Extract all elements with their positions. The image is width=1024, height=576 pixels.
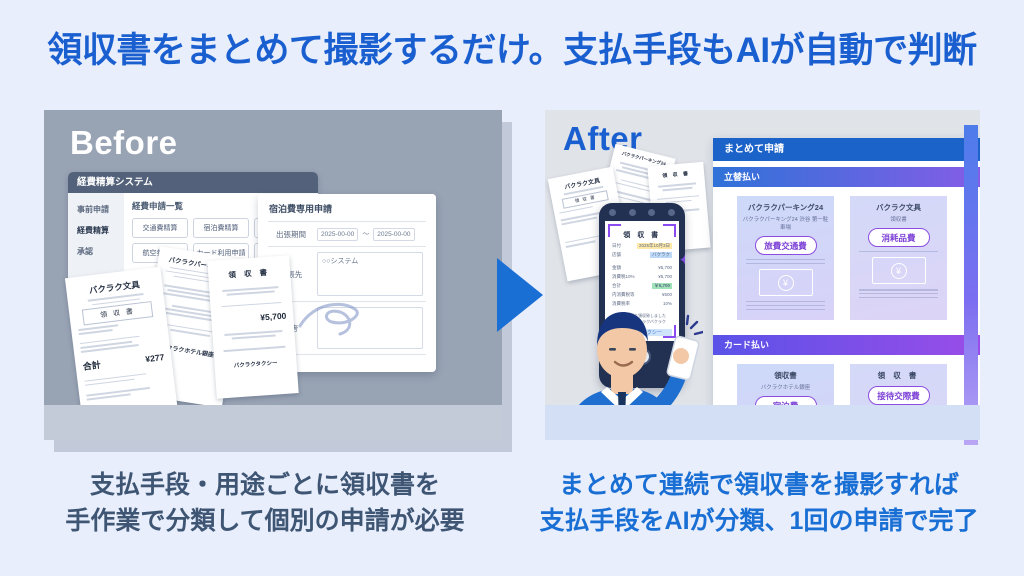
destination-input[interactable]: ○○システム: [317, 252, 423, 296]
before-desk-surface: [44, 405, 502, 440]
phone-row-total-label: 合計: [612, 283, 621, 289]
form-label-period: 出張期間: [268, 229, 314, 240]
phone-row-amount-value: ¥5,700: [658, 265, 672, 271]
matome-application-window: まとめて申請 立替払い バクラクパーキング24 バクラクパーキング24 渋谷 第…: [713, 138, 980, 423]
phone-row-tax-value: ¥5,700: [658, 274, 672, 280]
receipt-taxi-amount: ¥5,700: [218, 311, 287, 326]
receipt-card-bunbougu[interactable]: バクラク文具 領収書 消耗品費 ¥: [850, 196, 947, 320]
phone-row-store-label: 店舗: [612, 252, 621, 258]
expense-button-lodging[interactable]: 宿泊費精算: [193, 218, 249, 238]
after-receipt-doc-title: 領 収 書: [653, 169, 699, 180]
before-panel: Before 経費精算システム 事前申請 経費精算 承認 経費申請一覧 交通費精…: [44, 110, 502, 440]
after-accent-bar: [964, 125, 978, 445]
phone-row-tax-label: 消費税10%: [612, 274, 635, 280]
timer-icon[interactable]: [648, 209, 655, 216]
category-tag-entertainment: 接待交際費: [868, 386, 930, 405]
phone-row-tax: 消費税10% ¥5,700: [612, 274, 672, 280]
phone-row-store: 店舗 バクラク: [612, 252, 672, 258]
caption-after-line2: 支払手段をAIが分類、1回の申請で完了: [524, 504, 994, 540]
period-tilde: ～: [362, 229, 369, 239]
settings-icon[interactable]: [668, 209, 675, 216]
period-to-input[interactable]: 2025-00-00: [373, 228, 414, 241]
section-header-card: カード払い: [713, 335, 980, 355]
after-desk-surface: [545, 405, 980, 440]
receipt-taxi-title: 領 収 書: [215, 266, 284, 282]
receipt-card-parking-sub: バクラクパーキング24 渋谷 第一駐車場: [742, 215, 829, 231]
phone-row-date: 日付 2025年10月3日: [612, 243, 672, 249]
slide-root: 領収書をまとめて撮影するだけ。支払手段もAIが自動で判断 Before 経費精算…: [0, 0, 1024, 576]
receipt-card-hotel-sub: バクラクホテル銀座: [742, 383, 829, 391]
receipt-taxi: 領 収 書 ¥5,700 バクラクタクシー: [207, 255, 298, 398]
receipt-taxi-footer: バクラクタクシー: [221, 357, 289, 370]
receipt-card-bunbougu-title: バクラク文具: [855, 202, 942, 213]
phone-row-total: 合計 ￥5,700: [612, 283, 672, 289]
scan-corner-tr-icon: [663, 224, 676, 237]
receipt-bunbougu-title: バクラク文具: [73, 277, 156, 299]
sidebar-item-expense[interactable]: 経費精算: [68, 220, 124, 241]
sidebar-item-advance[interactable]: 事前申請: [68, 199, 124, 220]
receipt-bunbougu-total-label: 合計: [82, 357, 101, 372]
receipt-card-parking-title: バクラクパーキング24: [742, 202, 829, 213]
caption-before-line2: 手作業で分類して個別の申請が必要: [30, 504, 500, 540]
expense-button-transport[interactable]: 交通費精算: [132, 218, 188, 238]
after-panel: After バクラクパーキング24 領 収 書: [545, 110, 980, 440]
scan-corner-tl-icon: [608, 224, 621, 237]
matome-window-title: まとめて申請: [713, 138, 980, 161]
form-row-period: 出張期間 2025-00-00 ～ 2025-00-00: [268, 222, 426, 247]
phone-row-date-value: 2025年10月3日: [637, 243, 672, 249]
phone-row-total-value: ￥5,700: [652, 283, 672, 289]
phone-row-store-value: バクラク: [650, 252, 672, 258]
grid-icon[interactable]: [629, 209, 636, 216]
receipt-card-entertainment-title: 領 収 書: [855, 370, 942, 381]
receipt-bunbougu-amount: ¥277: [145, 352, 165, 364]
scribble-icon: [296, 296, 366, 342]
section-body-tatekae: バクラクパーキング24 バクラクパーキング24 渋谷 第一駐車場 旅費交通費 ¥…: [713, 187, 980, 329]
before-label: Before: [70, 124, 178, 162]
phone-row-amount-label: 金額: [612, 265, 621, 271]
receipt-card-parking[interactable]: バクラクパーキング24 バクラクパーキング24 渋谷 第一駐車場 旅費交通費 ¥: [737, 196, 834, 320]
period-from-input[interactable]: 2025-00-00: [317, 228, 358, 241]
section-header-tatekae: 立替払い: [713, 167, 980, 187]
sparkle-icon: ✦: [678, 251, 685, 269]
expense-system-title: 経費精算システム: [68, 172, 318, 193]
flash-icon[interactable]: [609, 209, 616, 216]
page-title: 領収書をまとめて撮影するだけ。支払手段もAIが自動で判断: [0, 22, 1024, 73]
caption-before: 支払手段・用途ごとに領収書を 手作業で分類して個別の申請が必要: [30, 468, 500, 539]
phone-row-date-label: 日付: [612, 243, 621, 249]
phone-row-amount: 金額 ¥5,700: [612, 265, 672, 271]
right-arrow-icon: [497, 258, 543, 332]
category-tag-travel: 旅費交通費: [755, 236, 817, 255]
caption-after-line1: まとめて連続で領収書を撮影すれば: [524, 468, 994, 504]
caption-before-line1: 支払手段・用途ごとに領収書を: [30, 468, 500, 504]
category-tag-supplies: 消耗品費: [868, 228, 930, 247]
caption-after: まとめて連続で領収書を撮影すれば 支払手段をAIが分類、1回の申請で完了: [524, 468, 994, 539]
receipt-card-bunbougu-sub: 領収書: [855, 215, 942, 223]
phone-status-bar: [599, 203, 685, 219]
banknote-icon: ¥: [759, 269, 813, 296]
hotel-form-title: 宿泊費専用申請: [258, 194, 436, 221]
receipt-card-hotel-title: 領収書: [742, 370, 829, 381]
banknote-icon: ¥: [872, 257, 926, 284]
